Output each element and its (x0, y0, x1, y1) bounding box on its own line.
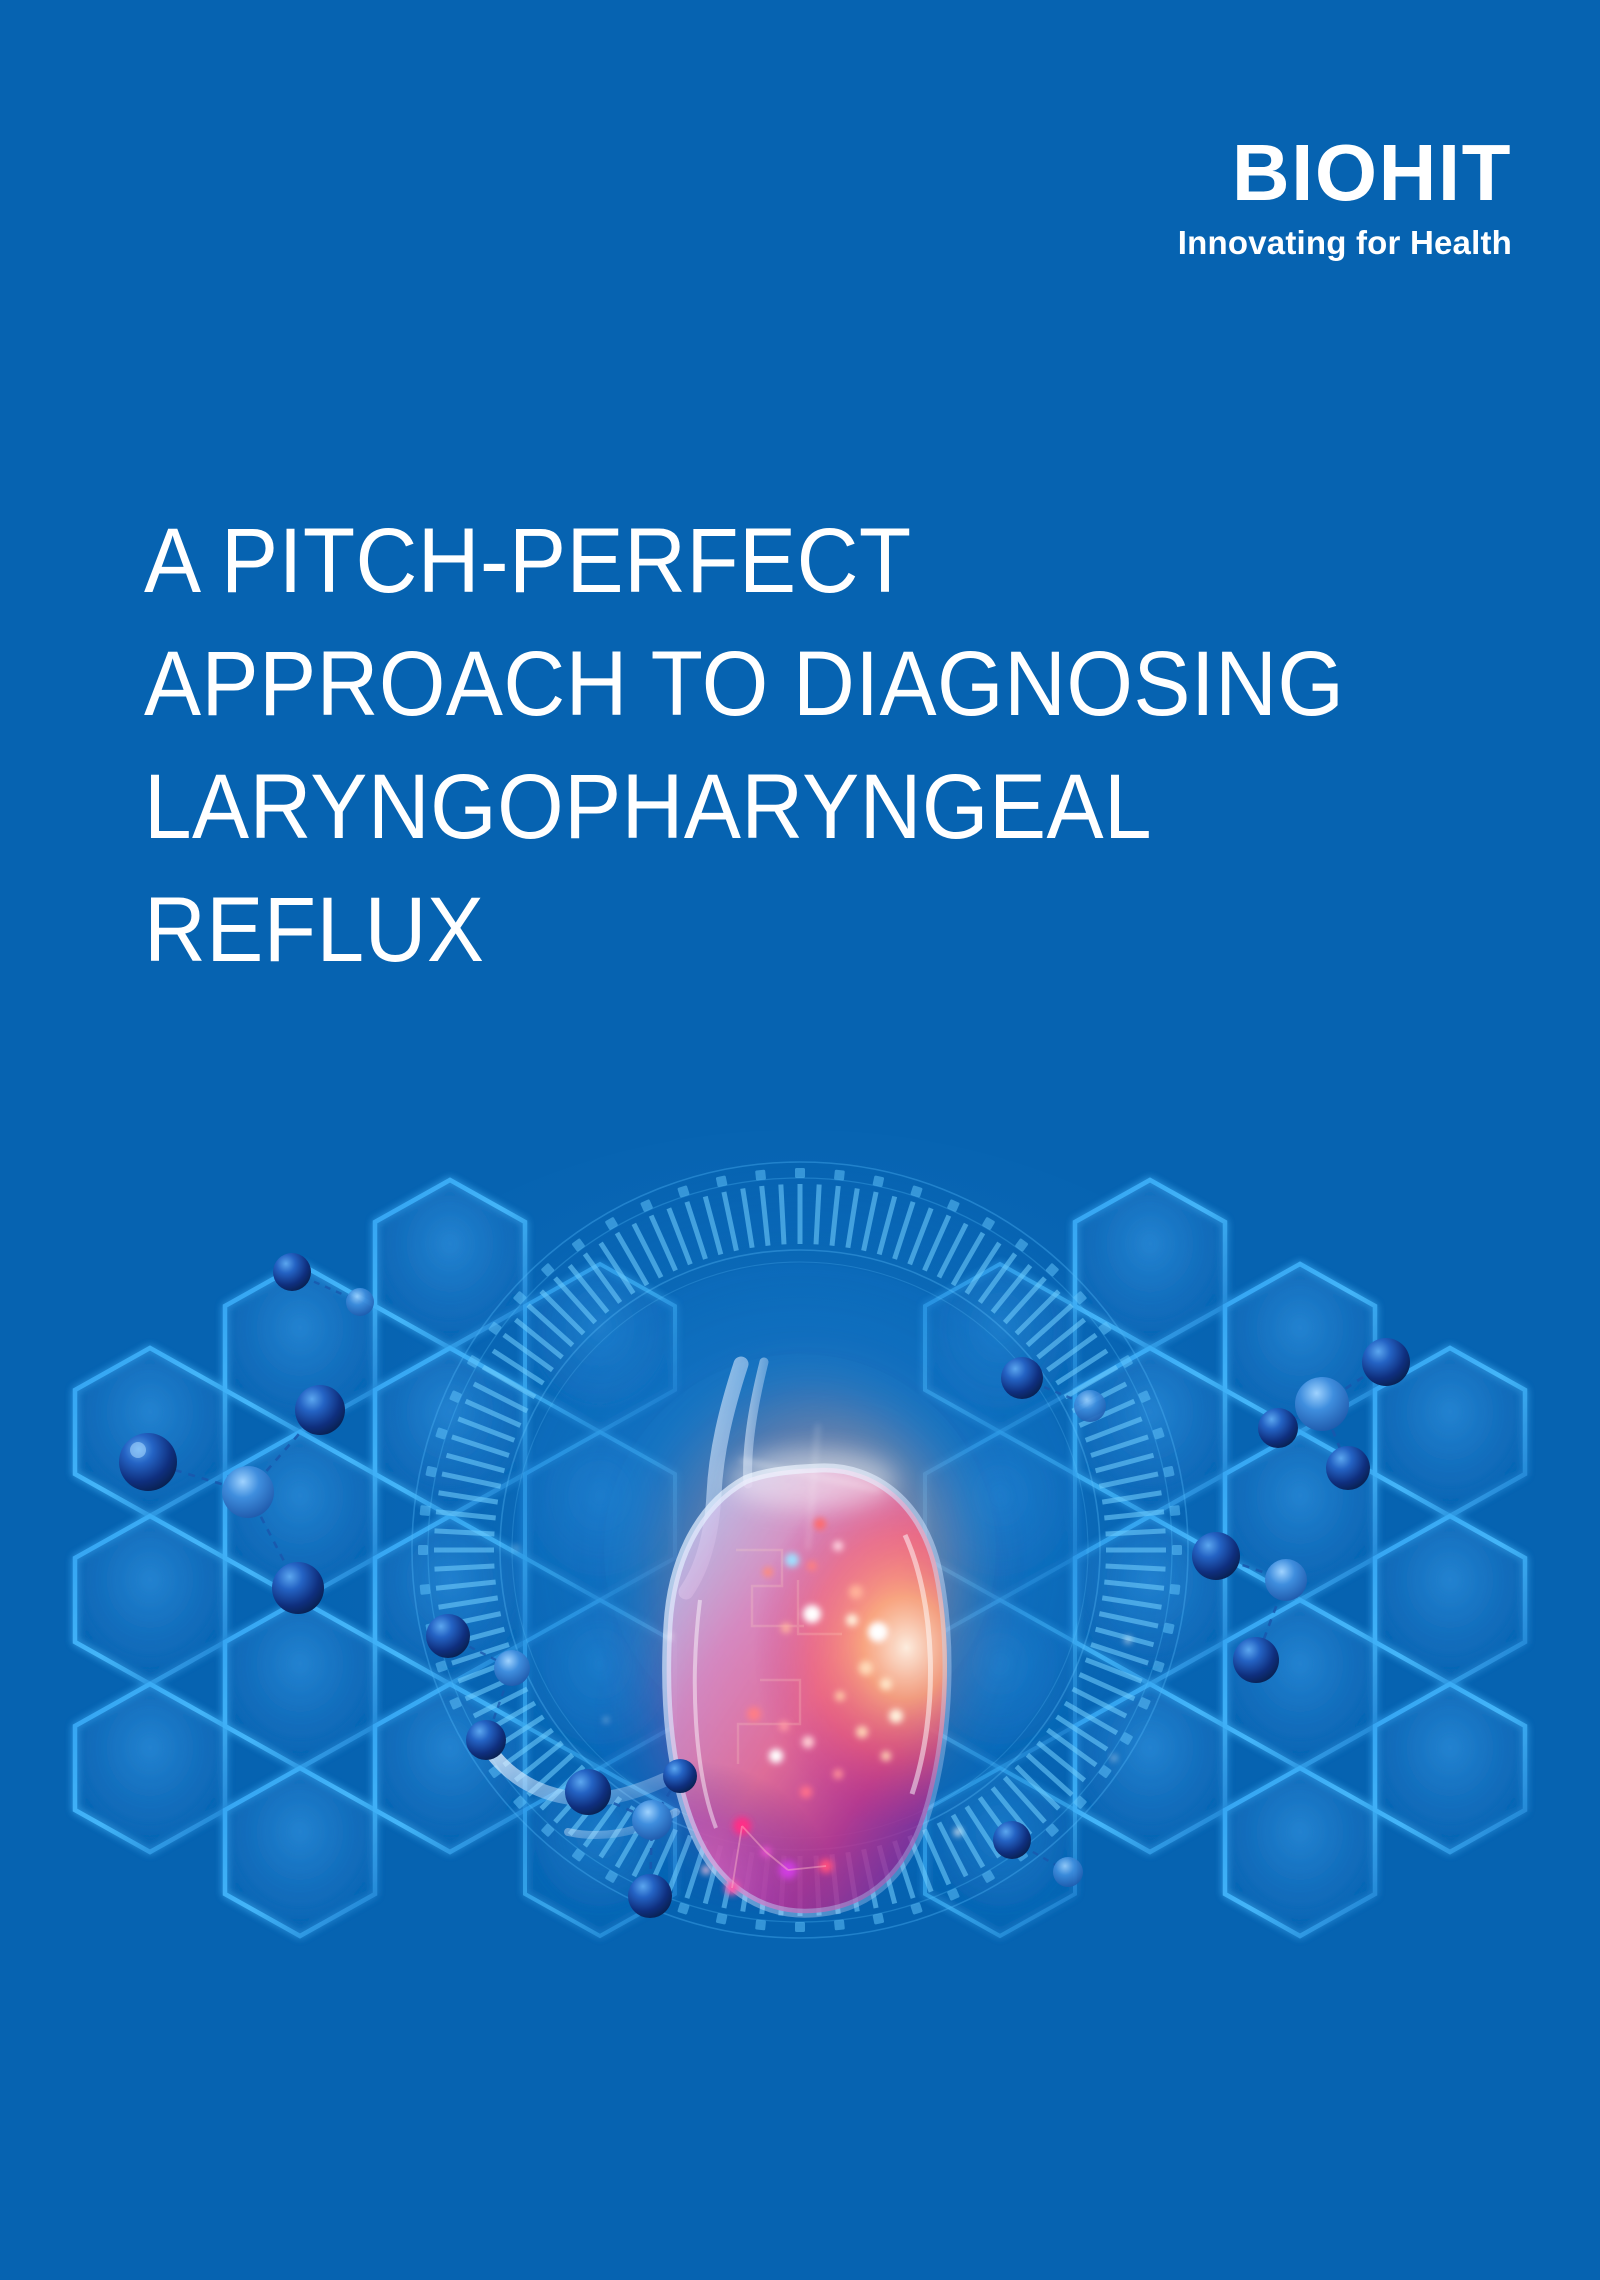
headline-line-3: LARYNGOPHARYNGEAL (144, 746, 1353, 869)
logo-tagline: Innovating for Health (1178, 226, 1512, 259)
biohit-logo: BIOHIT Innovating for Health (1178, 140, 1512, 259)
logo-wordmark: BIOHIT (1178, 140, 1512, 206)
headline-line-1: A PITCH-PERFECT (144, 500, 1353, 623)
cover-page: BIOHIT Innovating for Health A PITCH-PER… (0, 0, 1600, 2280)
cover-illustration (0, 1080, 1600, 2060)
headline-line-2: APPROACH TO DIAGNOSING (144, 623, 1353, 746)
headline-line-4: REFLUX (144, 869, 1353, 992)
page-title: A PITCH-PERFECT APPROACH TO DIAGNOSING L… (144, 500, 1444, 992)
